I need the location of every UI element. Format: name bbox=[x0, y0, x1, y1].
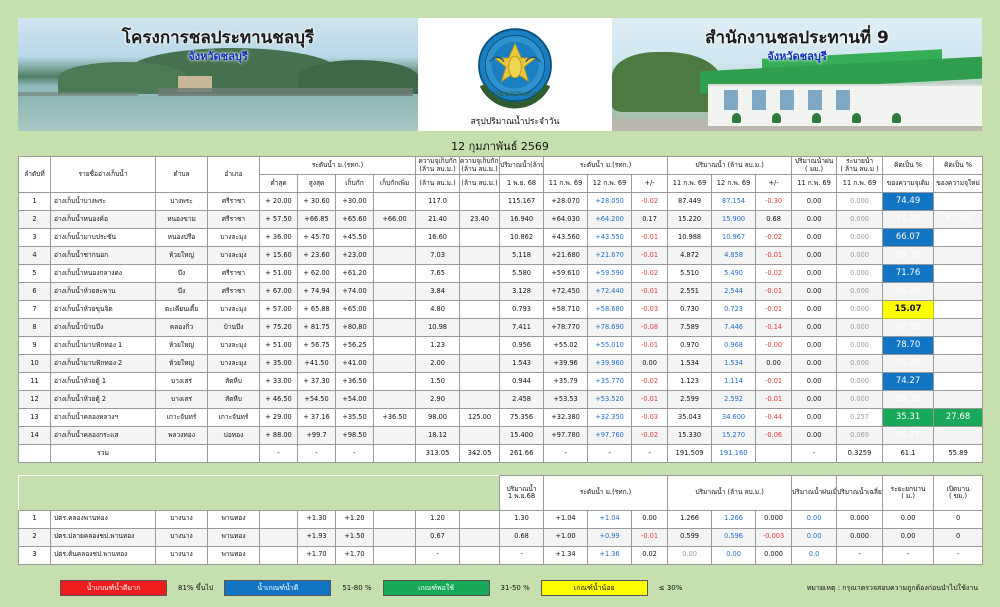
cell-pct-new bbox=[934, 229, 983, 247]
cell-no: 3 bbox=[19, 546, 51, 564]
table-row: 13อ่างเก็บน้ำคลองหลวงฯเกาะจันทร์เกาะจันท… bbox=[19, 409, 983, 427]
cell-no: 1 bbox=[19, 510, 51, 528]
cell-volume-nov: 0.793 bbox=[500, 301, 544, 319]
cell-level-low: + 29.00 bbox=[260, 409, 298, 427]
cell-level-low bbox=[260, 510, 298, 528]
table-row: 6อ่างเก็บน้ำห้วยสะพานบึงศรีราชา+ 67.00+ … bbox=[19, 283, 983, 301]
cell-level-diff: -0.01 bbox=[632, 391, 668, 409]
cell-pct-old: 35.31 bbox=[883, 409, 934, 427]
plant-shape bbox=[852, 113, 861, 123]
cell-volume-nov: 115.167 bbox=[500, 193, 544, 211]
th-level-group: ระดับน้ำ ม.(รทก.) bbox=[260, 157, 416, 175]
cell-volume-d11: 15.220 bbox=[668, 211, 712, 229]
th-reservoir: รายชื่ออ่างเก็บน้ำ bbox=[51, 157, 156, 193]
cell-capacity-extra: 125.00 bbox=[460, 409, 500, 427]
cell-volume-diff: -0.01 bbox=[756, 373, 792, 391]
cell-level-store: +35.50 bbox=[336, 409, 374, 427]
cell-level-store: +74.00 bbox=[336, 283, 374, 301]
cell-level-diff: -0.03 bbox=[632, 301, 668, 319]
table-row: 14อ่างเก็บน้ำคลองกระแสพลวงทองบ่อทอง+ 88.… bbox=[19, 427, 983, 445]
cell-level-store: +23.00 bbox=[336, 247, 374, 265]
cell-rainfall: 0.00 bbox=[792, 427, 837, 445]
cell-drain: 0.000 bbox=[837, 355, 883, 373]
royal-irrigation-seal-icon: กรมชลประทาน bbox=[470, 22, 560, 116]
cell-pct-old: 89.38 bbox=[883, 391, 934, 409]
table-row: 7อ่างเก็บน้ำห้วยขุนจิตตะเคียนเตี้ยบางละม… bbox=[19, 301, 983, 319]
cell-capacity: 10.98 bbox=[416, 319, 460, 337]
window-shape bbox=[780, 90, 794, 110]
cell-drain: 0.000 bbox=[837, 229, 883, 247]
cell-pct-new bbox=[934, 193, 983, 211]
cell-level-low: + 75.20 bbox=[260, 319, 298, 337]
cell-amphoe: ศรีราชา bbox=[208, 283, 260, 301]
cell-reservoir-name: อ่างเก็บน้ำมาบฟักทอง 1 bbox=[51, 337, 156, 355]
cell-amphoe: ศรีราชา bbox=[208, 193, 260, 211]
th-cap-store-unit: (ล้าน ลบ.ม.) bbox=[416, 175, 460, 193]
cell-volume-d11: 15.330 bbox=[668, 427, 712, 445]
gate-header-row-1: ปริมาณน้ำ 1 พ.ย.68 ระดับน้ำ ม.(รทก.) ปริ… bbox=[19, 476, 983, 493]
cell-volume-d12: 87.154 bbox=[712, 193, 756, 211]
cell-open: 0 bbox=[934, 510, 983, 528]
cell-drain: 0.000 bbox=[837, 373, 883, 391]
cell-pct-old: 74.30 bbox=[883, 211, 934, 229]
cell-volume-d11: 35.043 bbox=[668, 409, 712, 427]
cell-level-d11: +55.02 bbox=[544, 337, 588, 355]
cell-level-diff: -0.01 bbox=[632, 247, 668, 265]
cell-total-level-d11: - bbox=[544, 445, 588, 463]
gate-table-row: 1ปตร.คลองพานทองบางนางพานทอง+1.30+1.201.2… bbox=[19, 510, 983, 528]
th-cap-store: ความจุเก็บกัก (ล้าน ลบ.ม.) bbox=[416, 157, 460, 175]
th-drain-date: 11 ก.พ. 69 bbox=[837, 175, 883, 193]
cell-tambon: ห้วยใหญ่ bbox=[156, 355, 208, 373]
cell-level-high: + 81.75 bbox=[298, 319, 336, 337]
cell-drain: 0.000 bbox=[837, 391, 883, 409]
th-pct-old: คิดเป็น % bbox=[883, 157, 934, 175]
cell-capacity: 2.90 bbox=[416, 391, 460, 409]
cell-volume-d12: 4.858 bbox=[712, 247, 756, 265]
cell-lift: 0.00 bbox=[883, 510, 934, 528]
table-row: 1อ่างเก็บน้ำบางพระบางพระศรีราชา+ 20.00+ … bbox=[19, 193, 983, 211]
legend-bar: น้ำเกณฑ์น้ำดีมาก 81% ขึ้นไป น้ำเกณฑ์น้ำด… bbox=[18, 577, 982, 599]
cell-level-d12: +53.520 bbox=[588, 391, 632, 409]
cell-reservoir-name: อ่างเก็บน้ำบางพระ bbox=[51, 193, 156, 211]
cell-level-d11: +72.450 bbox=[544, 283, 588, 301]
table-head: ลำดับที่ รายชื่ออ่างเก็บน้ำ ตำบล อำเภอ ร… bbox=[19, 157, 983, 193]
cell-amphoe: บางละมุง bbox=[208, 337, 260, 355]
cell-no: 10 bbox=[19, 355, 51, 373]
cell-level-diff: -0.08 bbox=[632, 319, 668, 337]
cell-volume-nov: 1.543 bbox=[500, 355, 544, 373]
th-tambon: ตำบล bbox=[156, 157, 208, 193]
cell-level-low: + 67.00 bbox=[260, 283, 298, 301]
cell-volume-d12: 15.900 bbox=[712, 211, 756, 229]
cell-pct-new bbox=[934, 373, 983, 391]
th-level-store: เก็บกัก bbox=[336, 175, 374, 193]
cell-level-store: +1.20 bbox=[336, 510, 374, 528]
cell-volume-d12: 0.723 bbox=[712, 301, 756, 319]
cell-level-d12: +1.36 bbox=[588, 546, 632, 564]
th-cap-extra-line2: (ล้าน ลบ.ม.) bbox=[460, 166, 499, 173]
th-pct-new: คิดเป็น % bbox=[934, 157, 983, 175]
cell-level-store-extra bbox=[374, 229, 416, 247]
cell-pct-old: 66.24 bbox=[883, 283, 934, 301]
cell-level-d11: +53.53 bbox=[544, 391, 588, 409]
cell-rainfall: 0.00 bbox=[792, 373, 837, 391]
cell-level-store: +1.50 bbox=[336, 528, 374, 546]
cell-level-store-extra bbox=[374, 427, 416, 445]
cell-reservoir-name: อ่างเก็บน้ำห้วยตู้ 1 bbox=[51, 373, 156, 391]
cell-capacity: 7.65 bbox=[416, 265, 460, 283]
gate-th-blank3 bbox=[19, 493, 500, 511]
cell-drain: 0.000 bbox=[837, 265, 883, 283]
table-spacer bbox=[18, 463, 982, 475]
cell-level-low bbox=[260, 528, 298, 546]
cell-level-d12: +21.670 bbox=[588, 247, 632, 265]
cell-volume-diff: -0.01 bbox=[756, 247, 792, 265]
cell-amphoe: พานทอง bbox=[208, 510, 260, 528]
cell-level-store: +65.60 bbox=[336, 211, 374, 229]
cell-pct-new bbox=[934, 265, 983, 283]
cell-level-d11: +78.770 bbox=[544, 319, 588, 337]
cell-amphoe: บางละมุง bbox=[208, 355, 260, 373]
cell-total-capacity-extra: 342.05 bbox=[460, 445, 500, 463]
cell-level-high: + 56.75 bbox=[298, 337, 336, 355]
cell-total-capacity: 313.05 bbox=[416, 445, 460, 463]
cell-capacity: 21.40 bbox=[416, 211, 460, 229]
cell-amphoe: บ้านบึง bbox=[208, 319, 260, 337]
cell-volume-nov: 0.944 bbox=[500, 373, 544, 391]
cell-volume-diff: 0.000 bbox=[756, 510, 792, 528]
gate-table-row: 2ปตร.ปลายคลองชป.พานทองบางนางพานทอง+1.93+… bbox=[19, 528, 983, 546]
cell-volume-d12: 1.266 bbox=[712, 510, 756, 528]
cell-tambon: บางเสร่ bbox=[156, 373, 208, 391]
cell-amphoe: ศรีราชา bbox=[208, 211, 260, 229]
cell-no: 7 bbox=[19, 301, 51, 319]
table-row: 2อ่างเก็บน้ำหนองค้อหนองขามศรีราชา+ 57.50… bbox=[19, 211, 983, 229]
cell-no: 14 bbox=[19, 427, 51, 445]
cell-volume-d12: 0.596 bbox=[712, 528, 756, 546]
cell-rain-yesterday: 0.00 bbox=[792, 510, 837, 528]
cell-capacity: 1.50 bbox=[416, 373, 460, 391]
cell-tambon: ตะเคียนเตี้ย bbox=[156, 301, 208, 319]
cell-rainfall: 0.00 bbox=[792, 283, 837, 301]
plant-shape bbox=[892, 113, 901, 123]
th-level-group-2: ระดับน้ำ ม.(รทก.) bbox=[544, 157, 668, 175]
cell-drain: 0.000 bbox=[837, 211, 883, 229]
cell-volume-d11: 0.730 bbox=[668, 301, 712, 319]
cell-capacity-extra bbox=[460, 510, 500, 528]
cell-level-diff: -0.03 bbox=[632, 409, 668, 427]
cell-level-high: + 65.88 bbox=[298, 301, 336, 319]
water-surface bbox=[18, 96, 418, 131]
cell-level-low: + 35.00 bbox=[260, 355, 298, 373]
cell-level-d12: +32.350 bbox=[588, 409, 632, 427]
cell-reservoir-name: อ่างเก็บน้ำมาบฟักทอง 2 bbox=[51, 355, 156, 373]
cell-tambon: บึง bbox=[156, 265, 208, 283]
cell-volume-d12: 34.600 bbox=[712, 409, 756, 427]
window-shape bbox=[808, 90, 822, 110]
cell-level-diff: -0.02 bbox=[632, 265, 668, 283]
cell-reservoir-name: อ่างเก็บน้ำห้วยตู้ 2 bbox=[51, 391, 156, 409]
cell-level-store: +1.70 bbox=[336, 546, 374, 564]
cell-lift: - bbox=[883, 546, 934, 564]
banner-right-photo: สำนักงานชลประทานที่ 9 จังหวัดชลบุรี bbox=[612, 18, 982, 131]
cell-level-store: +41.00 bbox=[336, 355, 374, 373]
cell-rainfall: 0.00 bbox=[792, 409, 837, 427]
svg-text:กรมชลประทาน: กรมชลประทาน bbox=[491, 89, 539, 98]
cell-volume-nov: 5.580 bbox=[500, 265, 544, 283]
cell-volume-nov: 7.411 bbox=[500, 319, 544, 337]
cell-volume-nov: 15.400 bbox=[500, 427, 544, 445]
cell-capacity: 2.00 bbox=[416, 355, 460, 373]
banner-right-subtitle: จังหวัดชลบุรี bbox=[612, 47, 982, 65]
cell-level-low: + 51.00 bbox=[260, 337, 298, 355]
cell-volume-d11: 2.551 bbox=[668, 283, 712, 301]
cell-volume-diff: -0.00 bbox=[756, 337, 792, 355]
banner-seal-block: กรมชลประทาน สรุปปริมาณน้ำประจำวัน bbox=[418, 18, 612, 131]
cell-capacity: - bbox=[416, 546, 460, 564]
table-row: 8อ่างเก็บน้ำบ้านบึงคลองกิ่วบ้านบึง+ 75.2… bbox=[19, 319, 983, 337]
cell-capacity-extra bbox=[460, 546, 500, 564]
cell-avg-flow: 0.000 bbox=[837, 528, 883, 546]
cell-rainfall: 0.00 bbox=[792, 211, 837, 229]
table-row: 5อ่างเก็บน้ำหนองกลางดงบึงศรีราชา+ 51.00+… bbox=[19, 265, 983, 283]
cell-drain: 0.000 bbox=[837, 337, 883, 355]
cell-level-store: +65.00 bbox=[336, 301, 374, 319]
cell-tambon: บางนาง bbox=[156, 546, 208, 564]
cell-pct-old: 74.27 bbox=[883, 373, 934, 391]
th-pct-new-sub: ของความจุใหม่ bbox=[934, 175, 983, 193]
cell-tambon: พลวงทอง bbox=[156, 427, 208, 445]
gate-table: ปริมาณน้ำ 1 พ.ย.68 ระดับน้ำ ม.(รทก.) ปริ… bbox=[18, 475, 983, 565]
cell-volume-d11: 87.449 bbox=[668, 193, 712, 211]
cell-pct-new: 27.68 bbox=[934, 409, 983, 427]
table-total-row: รวม---313.05342.05261.66---191.509191.16… bbox=[19, 445, 983, 463]
cell-volume-d12: 15.270 bbox=[712, 427, 756, 445]
cell-rainfall: 0.00 bbox=[792, 337, 837, 355]
cell-rainfall: 0.00 bbox=[792, 301, 837, 319]
gate-table-body: 1ปตร.คลองพานทองบางนางพานทอง+1.30+1.201.2… bbox=[19, 510, 983, 564]
cell-level-store: +98.50 bbox=[336, 427, 374, 445]
gate-th-blank2 bbox=[260, 476, 500, 493]
cell-tambon: หนองปรือ bbox=[156, 229, 208, 247]
cell-level-high: + 30.60 bbox=[298, 193, 336, 211]
cell-capacity-extra bbox=[460, 528, 500, 546]
cell-volume-diff: -0.44 bbox=[756, 409, 792, 427]
cell-level-high: +1.30 bbox=[298, 510, 336, 528]
cell-total-volume-nov: 261.66 bbox=[500, 445, 544, 463]
cell-volume-diff: -0.003 bbox=[756, 528, 792, 546]
page-banner: โครงการชลประทานชลบุรี จังหวัดชลบุรี กรมช… bbox=[18, 18, 982, 131]
cell-tambon: บางเสร่ bbox=[156, 391, 208, 409]
cell-capacity-extra bbox=[460, 427, 500, 445]
cell-level-high: + 23.60 bbox=[298, 247, 336, 265]
cell-level-diff: -0.02 bbox=[632, 427, 668, 445]
plant-shape bbox=[812, 113, 821, 123]
cell-level-store: +61.20 bbox=[336, 265, 374, 283]
cell-volume-nov: 1.30 bbox=[500, 510, 544, 528]
cell-volume-nov: - bbox=[500, 546, 544, 564]
legend-swatch-green: เกณฑ์พอใช้ bbox=[383, 580, 490, 596]
cell-level-d12: +58.680 bbox=[588, 301, 632, 319]
th-drain-line2: ( ล้าน ลบ.ม ) bbox=[837, 166, 882, 173]
cell-level-diff: -0.01 bbox=[632, 528, 668, 546]
th-vol-group: ปริมาณน้ำ (ล้าน ลบ.ม.) bbox=[668, 157, 792, 175]
th-level-low: ต่ำสุด bbox=[260, 175, 298, 193]
cell-level-store: +56.25 bbox=[336, 337, 374, 355]
cell-level-d11: +97.780 bbox=[544, 427, 588, 445]
th-vol-nov: ปริมาณน้ำ(ล้าน ลบ.ม.) bbox=[500, 157, 544, 175]
cell-level-low bbox=[260, 546, 298, 564]
cell-level-d12: +72.440 bbox=[588, 283, 632, 301]
cell-pct-old: 71.76 bbox=[883, 265, 934, 283]
cell-volume-d12: 5.490 bbox=[712, 265, 756, 283]
cell-amphoe: สัตหีบ bbox=[208, 373, 260, 391]
cell-no: 8 bbox=[19, 319, 51, 337]
gate-th-vol-nov-l2: 1 พ.ย.68 bbox=[500, 493, 543, 500]
cell-volume-d12: 2.592 bbox=[712, 391, 756, 409]
cell-amphoe: พานทอง bbox=[208, 546, 260, 564]
cell-pct-new bbox=[934, 355, 983, 373]
cell-no: 4 bbox=[19, 247, 51, 265]
cell-capacity-extra bbox=[460, 301, 500, 319]
th-cap-extra: ความจุเก็บกักเพิ่ม (ล้าน ลบ.ม.) bbox=[460, 157, 500, 175]
cell-level-low: + 51.00 bbox=[260, 265, 298, 283]
cell-volume-d11: 0.599 bbox=[668, 528, 712, 546]
cell-tambon: ห้วยใหญ่ bbox=[156, 337, 208, 355]
cell-reservoir-name: อ่างเก็บน้ำมาบประชัน bbox=[51, 229, 156, 247]
cell-volume-d11: 1.123 bbox=[668, 373, 712, 391]
cell-total-high: - bbox=[298, 445, 336, 463]
cell-volume-diff: 0.68 bbox=[756, 211, 792, 229]
cell-volume-diff: -0.01 bbox=[756, 301, 792, 319]
cell-capacity-extra bbox=[460, 337, 500, 355]
cell-open: 0 bbox=[934, 528, 983, 546]
cell-rainfall: 0.00 bbox=[792, 193, 837, 211]
cell-volume-diff: -0.06 bbox=[756, 427, 792, 445]
cell-amphoe: สัตหีบ bbox=[208, 391, 260, 409]
banner-left-subtitle: จังหวัดชลบุรี bbox=[18, 47, 418, 65]
cell-amphoe: บางละมุง bbox=[208, 301, 260, 319]
cell-capacity: 1.23 bbox=[416, 337, 460, 355]
table-body: 1อ่างเก็บน้ำบางพระบางพระศรีราชา+ 20.00+ … bbox=[19, 193, 983, 463]
cell-tambon: บางนาง bbox=[156, 528, 208, 546]
gate-th-blank bbox=[19, 476, 260, 493]
cell-total-rainfall: - bbox=[792, 445, 837, 463]
cell-level-low: + 57.00 bbox=[260, 301, 298, 319]
cell-level-d12: +64.200 bbox=[588, 211, 632, 229]
cell-level-d11: +1.00 bbox=[544, 528, 588, 546]
table-row: 4อ่างเก็บน้ำชากนอกห้วยใหญ่บางละมุง+ 15.6… bbox=[19, 247, 983, 265]
banner-left-photo: โครงการชลประทานชลบุรี จังหวัดชลบุรี bbox=[18, 18, 418, 131]
cell-level-high: +41.50 bbox=[298, 355, 336, 373]
cell-volume-nov: 10.862 bbox=[500, 229, 544, 247]
cell-tambon: ห้วยใหญ่ bbox=[156, 247, 208, 265]
cell-level-low: + 36.00 bbox=[260, 229, 298, 247]
cell-level-low: + 57.50 bbox=[260, 211, 298, 229]
cell-volume-diff: -0.01 bbox=[756, 283, 792, 301]
cell-drain: 0.257 bbox=[837, 409, 883, 427]
cell-no: 9 bbox=[19, 337, 51, 355]
th-cap-extra-unit: (ล้าน ลบ.ม.) bbox=[460, 175, 500, 193]
cell-level-low: + 88.00 bbox=[260, 427, 298, 445]
window-shape bbox=[752, 90, 766, 110]
th-rain-line2: ( มม.) bbox=[792, 166, 836, 173]
cell-level-low: + 33.00 bbox=[260, 373, 298, 391]
cell-total-pct-new: 55.89 bbox=[934, 445, 983, 463]
cell-capacity: 16.60 bbox=[416, 229, 460, 247]
th-amphoe: อำเภอ bbox=[208, 157, 260, 193]
cell-reservoir-name: อ่างเก็บน้ำห้วยสะพาน bbox=[51, 283, 156, 301]
cell-level-high: +66.85 bbox=[298, 211, 336, 229]
cell-pct-new bbox=[934, 391, 983, 409]
th-level-high: สูงสุด bbox=[298, 175, 336, 193]
cell-level-store-extra bbox=[374, 546, 416, 564]
cell-gate-name: ปตร.คลองพานทอง bbox=[51, 510, 156, 528]
cell-level-high: + 62.00 bbox=[298, 265, 336, 283]
cell-total-label: รวม bbox=[51, 445, 156, 463]
th-vol-d11: 11 ก.พ. 69 bbox=[668, 175, 712, 193]
cell-level-d11: +1.34 bbox=[544, 546, 588, 564]
cell-level-diff: 0.00 bbox=[632, 355, 668, 373]
cell-volume-d11: 0.970 bbox=[668, 337, 712, 355]
cell-level-store: +54.00 bbox=[336, 391, 374, 409]
cell-level-diff: 0.02 bbox=[632, 546, 668, 564]
cell-total-pct-old: 61.1 bbox=[883, 445, 934, 463]
th-rain-date: 11 ก.พ. 69 bbox=[792, 175, 837, 193]
cell-capacity-extra bbox=[460, 247, 500, 265]
cell-no: 13 bbox=[19, 409, 51, 427]
cell-capacity-extra bbox=[460, 319, 500, 337]
cell-level-high: + 37.16 bbox=[298, 409, 336, 427]
cell-volume-nov: 5.118 bbox=[500, 247, 544, 265]
cell-level-low: + 46.50 bbox=[260, 391, 298, 409]
cell-capacity: 3.84 bbox=[416, 283, 460, 301]
cell-level-diff: -0.02 bbox=[632, 373, 668, 391]
cell-no: 11 bbox=[19, 373, 51, 391]
cell-reservoir-name: อ่างเก็บน้ำชากนอก bbox=[51, 247, 156, 265]
legend-swatch-yellow: เกณฑ์น้ำน้อย bbox=[541, 580, 648, 596]
cell-volume-diff: -0.01 bbox=[756, 391, 792, 409]
cell-volume-diff: -0.14 bbox=[756, 319, 792, 337]
cell-tambon: บึง bbox=[156, 283, 208, 301]
cell-volume-diff: -0.02 bbox=[756, 265, 792, 283]
cell-volume-nov: 0.956 bbox=[500, 337, 544, 355]
legend-swatch-red: น้ำเกณฑ์น้ำดีมาก bbox=[60, 580, 167, 596]
cell-level-d11: +21.680 bbox=[544, 247, 588, 265]
cell-level-store-extra bbox=[374, 301, 416, 319]
cell-level-store-extra: +66.00 bbox=[374, 211, 416, 229]
th-cap-store-line2: (ล้าน ลบ.ม.) bbox=[416, 166, 459, 173]
legend-range-red: 81% ขึ้นไป bbox=[167, 583, 224, 594]
th-lv-d12: 12 ก.พ. 69 bbox=[588, 175, 632, 193]
cell-rain-yesterday: 0.0 bbox=[792, 546, 837, 564]
cell-level-store-extra bbox=[374, 193, 416, 211]
cell-pct-old: 66.07 bbox=[883, 229, 934, 247]
cell-level-diff: 0.17 bbox=[632, 211, 668, 229]
cell-gate-name: ปตร.ต้นคลองชป.พานทอง bbox=[51, 546, 156, 564]
cell-volume-d11: 0.00 bbox=[668, 546, 712, 564]
cell-total-volume-diff bbox=[756, 445, 792, 463]
gate-table-head: ปริมาณน้ำ 1 พ.ย.68 ระดับน้ำ ม.(รทก.) ปริ… bbox=[19, 476, 983, 511]
cell-volume-d11: 1.534 bbox=[668, 355, 712, 373]
cell-amphoe: ศรีราชา bbox=[208, 265, 260, 283]
cell-lift: 0.00 bbox=[883, 528, 934, 546]
cell-level-d11: +43.560 bbox=[544, 229, 588, 247]
gate-th-vol-group: ปริมาณน้ำ (ล้าน ลบ.ม.) bbox=[668, 476, 792, 511]
gate-th-lift-l2: ( ม.) bbox=[883, 493, 933, 500]
cell-capacity-extra bbox=[460, 193, 500, 211]
